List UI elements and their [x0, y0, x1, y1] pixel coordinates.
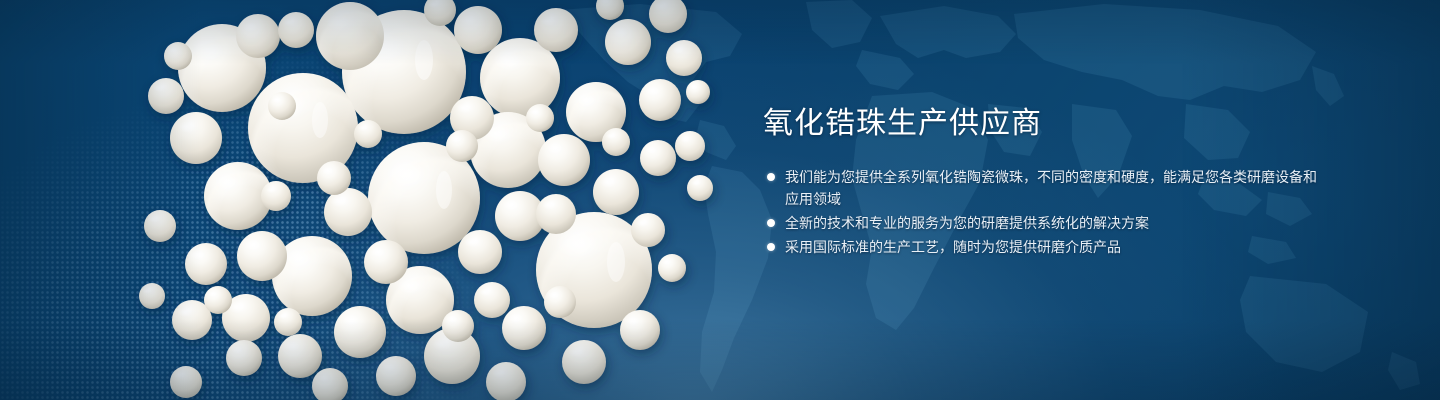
list-item: 采用国际标准的生产工艺，随时为您提供研磨介质产品: [763, 236, 1323, 258]
list-item-text: 全新的技术和专业的服务为您的研磨提供系统化的解决方案: [785, 215, 1149, 231]
hero-banner: 氧化锆珠生产供应商 我们能为您提供全系列氧化锆陶瓷微珠，不同的密度和硬度，能满足…: [0, 0, 1440, 400]
list-item: 全新的技术和专业的服务为您的研磨提供系统化的解决方案: [763, 212, 1323, 234]
bullet-dot-icon: [767, 173, 775, 181]
list-item-text: 我们能为您提供全系列氧化锆陶瓷微珠，不同的密度和硬度，能满足您各类研磨设备和应用…: [785, 169, 1317, 207]
page-title: 氧化锆珠生产供应商: [763, 104, 1323, 144]
bullet-dot-icon: [767, 243, 775, 251]
banner-copy: 氧化锆珠生产供应商 我们能为您提供全系列氧化锆陶瓷微珠，不同的密度和硬度，能满足…: [763, 104, 1323, 260]
feature-list: 我们能为您提供全系列氧化锆陶瓷微珠，不同的密度和硬度，能满足您各类研磨设备和应用…: [763, 166, 1323, 258]
list-item: 我们能为您提供全系列氧化锆陶瓷微珠，不同的密度和硬度，能满足您各类研磨设备和应用…: [763, 166, 1323, 210]
list-item-text: 采用国际标准的生产工艺，随时为您提供研磨介质产品: [785, 239, 1121, 255]
bullet-dot-icon: [767, 219, 775, 227]
